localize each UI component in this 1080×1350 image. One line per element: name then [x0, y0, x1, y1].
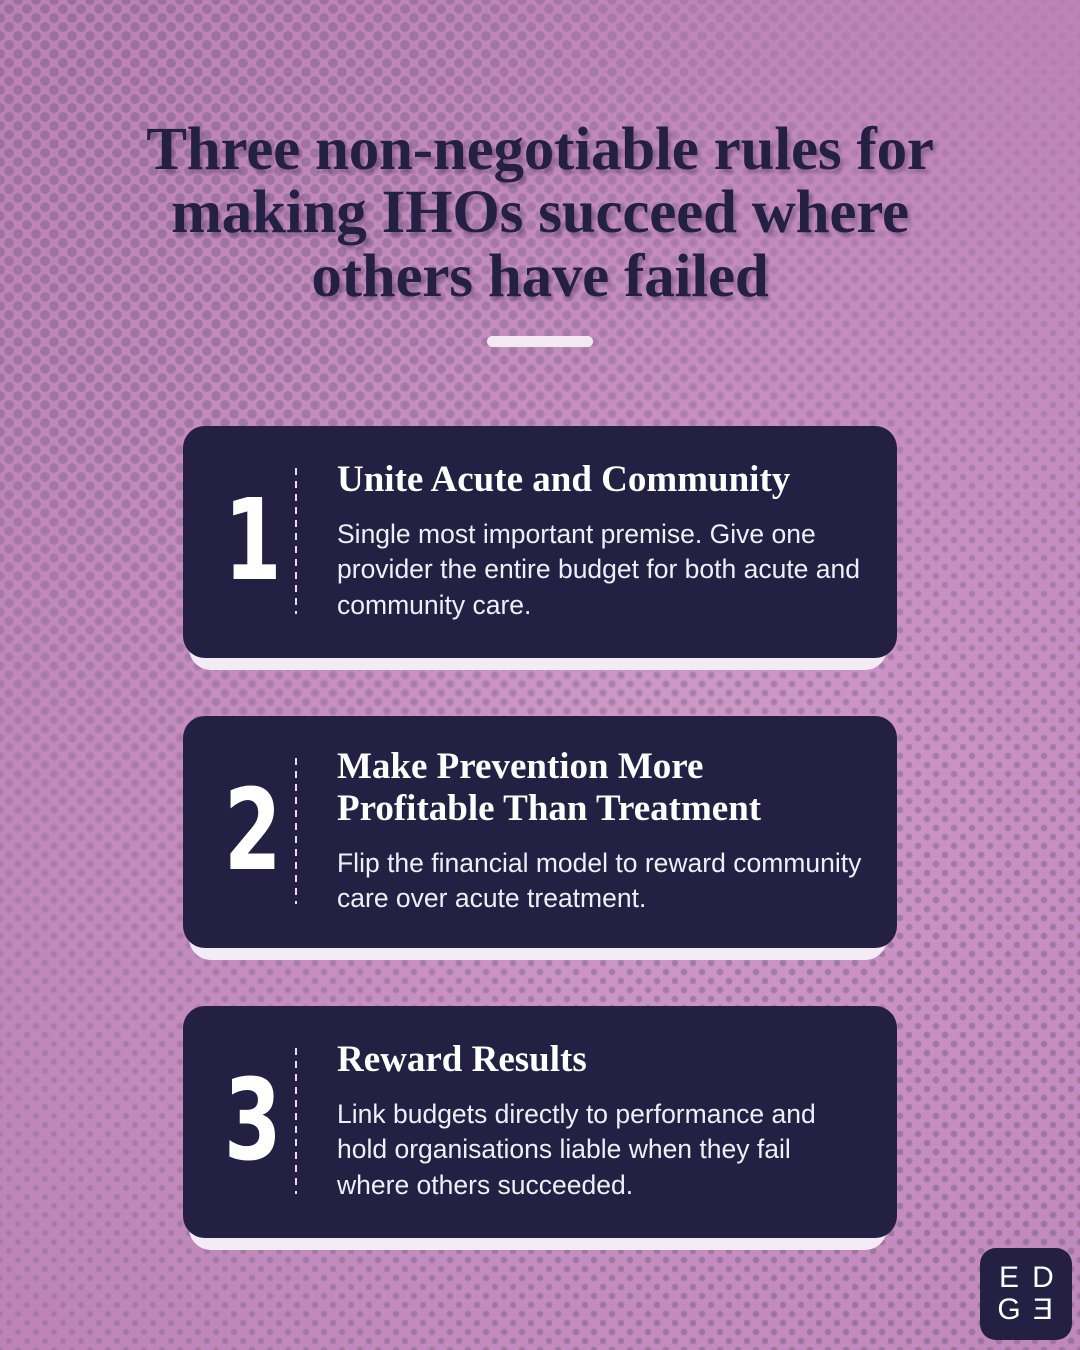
rules-list: 1 Unite Acute and Community Single most …: [183, 426, 897, 1238]
poster-header: Three non-negotiable rules for making IH…: [0, 118, 1080, 347]
rule-heading: Reward Results: [337, 1039, 863, 1081]
rule-number: 2: [224, 775, 280, 887]
rule-number-column: 2: [209, 742, 295, 920]
rule-description: Single most important premise. Give one …: [337, 517, 863, 623]
rule-card-1: 1 Unite Acute and Community Single most …: [183, 426, 897, 658]
rule-description: Link budgets directly to performance and…: [337, 1097, 863, 1203]
rule-content: Reward Results Link budgets directly to …: [297, 1032, 863, 1210]
poster-canvas: Three non-negotiable rules for making IH…: [0, 0, 1080, 1350]
rule-card-2: 2 Make Prevention More Profitable Than T…: [183, 716, 897, 948]
page-title: Three non-negotiable rules for making IH…: [120, 118, 960, 308]
logo-letter-e-top: E: [996, 1263, 1022, 1293]
rule-content: Make Prevention More Profitable Than Tre…: [297, 742, 863, 920]
rule-heading: Unite Acute and Community: [337, 459, 863, 501]
rule-description: Flip the financial model to reward commu…: [337, 846, 863, 916]
rule-heading: Make Prevention More Profitable Than Tre…: [337, 746, 863, 830]
logo-letter-grid: E D G E: [996, 1263, 1056, 1325]
list-item: 1 Unite Acute and Community Single most …: [183, 426, 897, 658]
rule-number-column: 1: [209, 452, 295, 630]
list-item: 2 Make Prevention More Profitable Than T…: [183, 716, 897, 948]
rule-number-column: 3: [209, 1032, 295, 1210]
rule-number: 1: [224, 485, 280, 597]
rule-content: Unite Acute and Community Single most im…: [297, 452, 863, 630]
edge-logo: E D G E: [980, 1248, 1072, 1340]
logo-letter-e-bottom: E: [1030, 1295, 1056, 1325]
rule-number: 3: [224, 1065, 280, 1177]
logo-letter-g: G: [996, 1295, 1022, 1325]
logo-letter-d: D: [1030, 1263, 1056, 1293]
list-item: 3 Reward Results Link budgets directly t…: [183, 1006, 897, 1238]
rule-card-3: 3 Reward Results Link budgets directly t…: [183, 1006, 897, 1238]
title-divider: [487, 336, 593, 347]
